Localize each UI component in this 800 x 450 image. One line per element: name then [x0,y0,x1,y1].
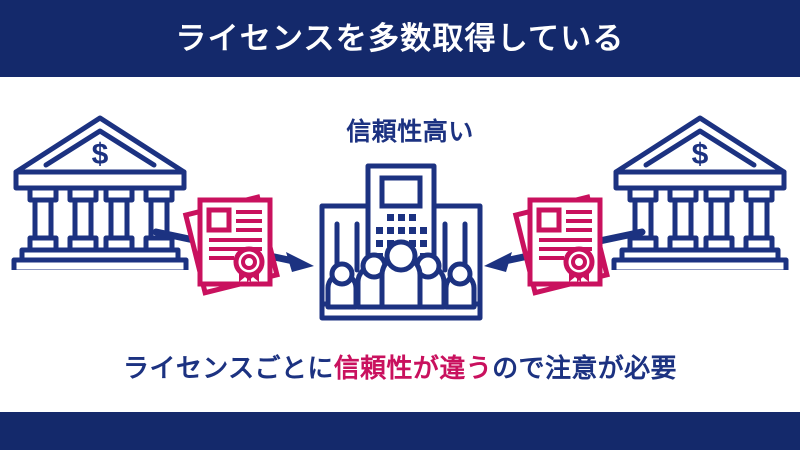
bank-dollar-symbol: $ [92,138,109,171]
footer-band [0,412,800,450]
header-band: ライセンスを多数取得している [0,0,800,77]
footer-caption-tail: ので注意が必要 [492,353,677,383]
footer-caption-highlight: 信頼性が違う [334,353,492,383]
footer-caption: ライセンスごとに信頼性が違うので注意が必要 [0,355,800,381]
license-certificate-icon-left [182,190,288,301]
slide-canvas: ライセンスを多数取得している 信頼性高い [0,0,800,450]
footer-caption-lead: ライセンスごとに [123,353,334,383]
exchange-building-with-people-icon [318,160,484,327]
license-certificate-icon-right [512,190,618,301]
page-title: ライセンスを多数取得している [175,23,624,54]
hub-caption-label: 信頼性高い [310,112,510,148]
bank-dollar-symbol: $ [692,138,709,171]
